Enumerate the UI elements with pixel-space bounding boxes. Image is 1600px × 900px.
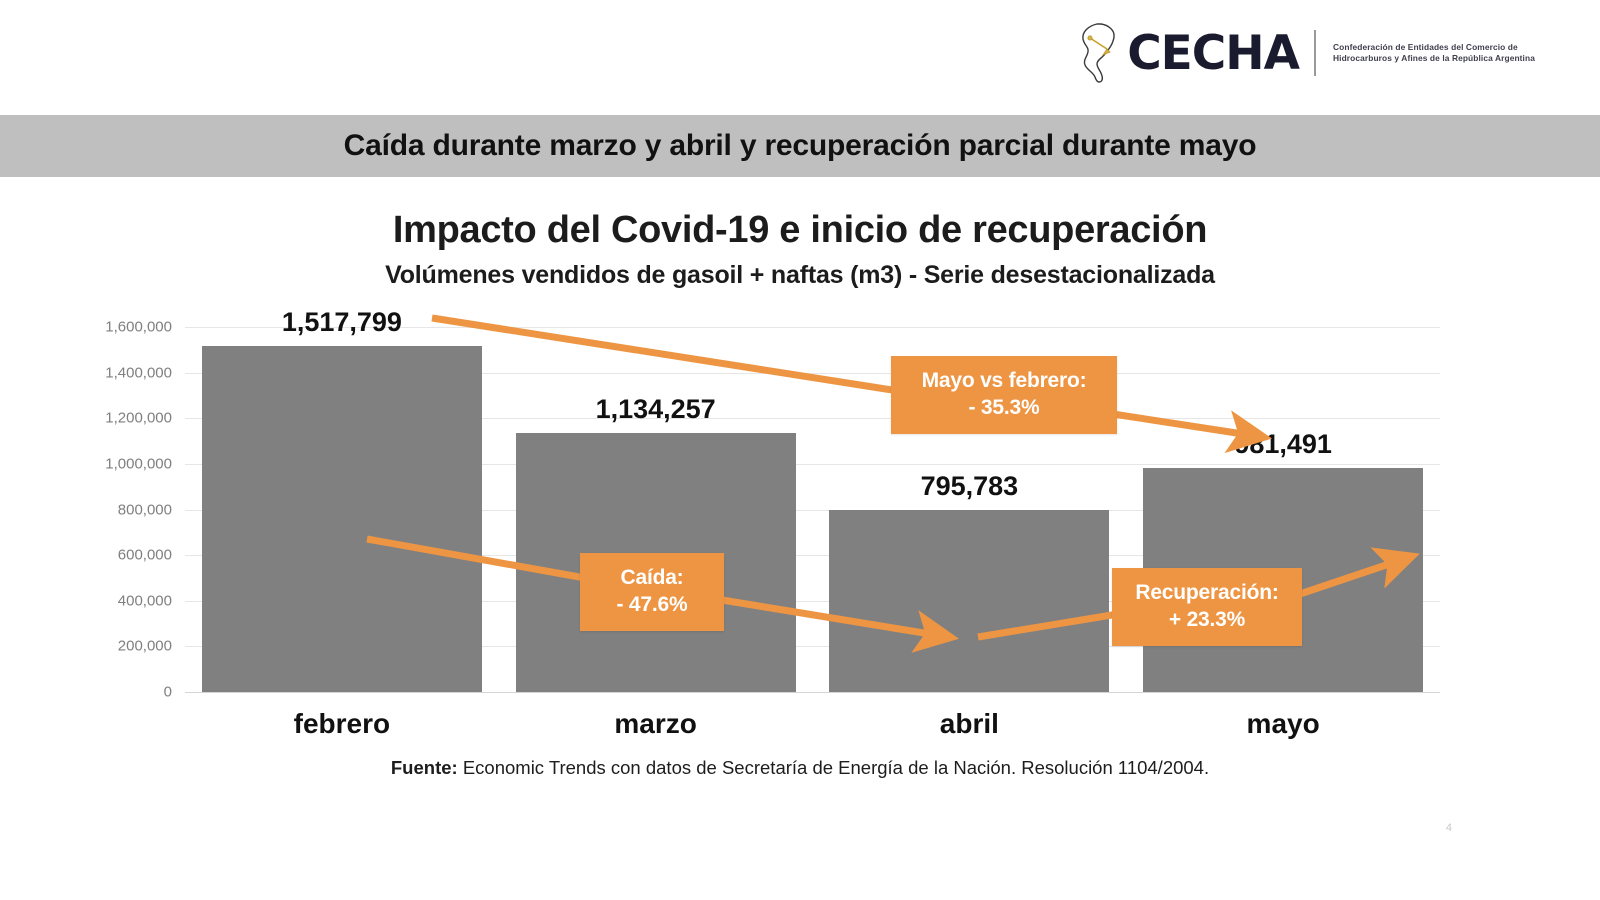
logo-bar: CECHA Confederación de Entidades del Com… <box>0 0 1600 110</box>
logo-wordmark: CECHA <box>1127 30 1299 77</box>
y-axis-tick-label: 1,400,000 <box>105 364 172 381</box>
annotation-line2: - 47.6% <box>617 592 688 619</box>
chart-container: Impacto del Covid-19 e inicio de recuper… <box>0 177 1600 837</box>
y-axis-tick-label: 400,000 <box>118 592 172 609</box>
annotation-recuperacion: Recuperación: + 23.3% <box>1112 568 1302 646</box>
y-axis-tick-label: 200,000 <box>118 638 172 655</box>
bar-value-abril: 795,783 <box>921 471 1019 502</box>
chart-subtitle: Volúmenes vendidos de gasoil + naftas (m… <box>0 261 1600 290</box>
logo-tagline: Confederación de Entidades del Comercio … <box>1333 42 1538 65</box>
section-banner: Caída durante marzo y abril y recuperaci… <box>0 115 1600 177</box>
slide: CECHA Confederación de Entidades del Com… <box>0 0 1600 900</box>
bar-febrero <box>202 346 482 692</box>
annotation-line1: Mayo vs febrero: <box>922 368 1087 395</box>
argentina-map-icon <box>1077 22 1123 84</box>
bar-value-marzo: 1,134,257 <box>596 394 716 425</box>
annotation-caida: Caída: - 47.6% <box>580 553 724 631</box>
logo-divider <box>1314 30 1316 76</box>
annotation-line2: + 23.3% <box>1169 607 1245 634</box>
annotation-line1: Recuperación: <box>1135 580 1278 607</box>
x-axis-label-mayo: mayo <box>1247 708 1320 740</box>
annotation-line1: Caída: <box>621 565 684 592</box>
annotation-line2: - 35.3% <box>969 395 1040 422</box>
bar-value-febrero: 1,517,799 <box>282 307 402 338</box>
source-text: Economic Trends con datos de Secretaría … <box>458 757 1209 778</box>
source-label: Fuente: <box>391 757 458 778</box>
x-axis-label-abril: abril <box>940 708 999 740</box>
y-axis-tick-label: 1,200,000 <box>105 410 172 427</box>
annotation-mayo-vs-febrero: Mayo vs febrero: - 35.3% <box>891 356 1117 434</box>
page-number: 4 <box>1446 822 1452 834</box>
banner-title: Caída durante marzo y abril y recuperaci… <box>344 129 1257 163</box>
y-axis-labels: 0200,000400,000600,000800,0001,000,0001,… <box>60 327 172 692</box>
source-footnote: Fuente: Economic Trends con datos de Sec… <box>0 757 1600 779</box>
cecha-logo: CECHA Confederación de Entidades del Com… <box>1077 22 1538 84</box>
y-axis-tick-label: 1,600,000 <box>105 319 172 336</box>
y-axis-tick-label: 600,000 <box>118 547 172 564</box>
y-axis-tick-label: 1,000,000 <box>105 455 172 472</box>
bar-value-mayo: 981,491 <box>1234 429 1332 460</box>
chart-title: Impacto del Covid-19 e inicio de recuper… <box>0 209 1600 252</box>
y-axis-tick-label: 800,000 <box>118 501 172 518</box>
y-axis-tick-label: 0 <box>164 684 172 701</box>
x-axis-label-marzo: marzo <box>614 708 696 740</box>
gridline <box>185 692 1440 693</box>
x-axis-label-febrero: febrero <box>294 708 390 740</box>
bar-abril <box>829 510 1109 692</box>
